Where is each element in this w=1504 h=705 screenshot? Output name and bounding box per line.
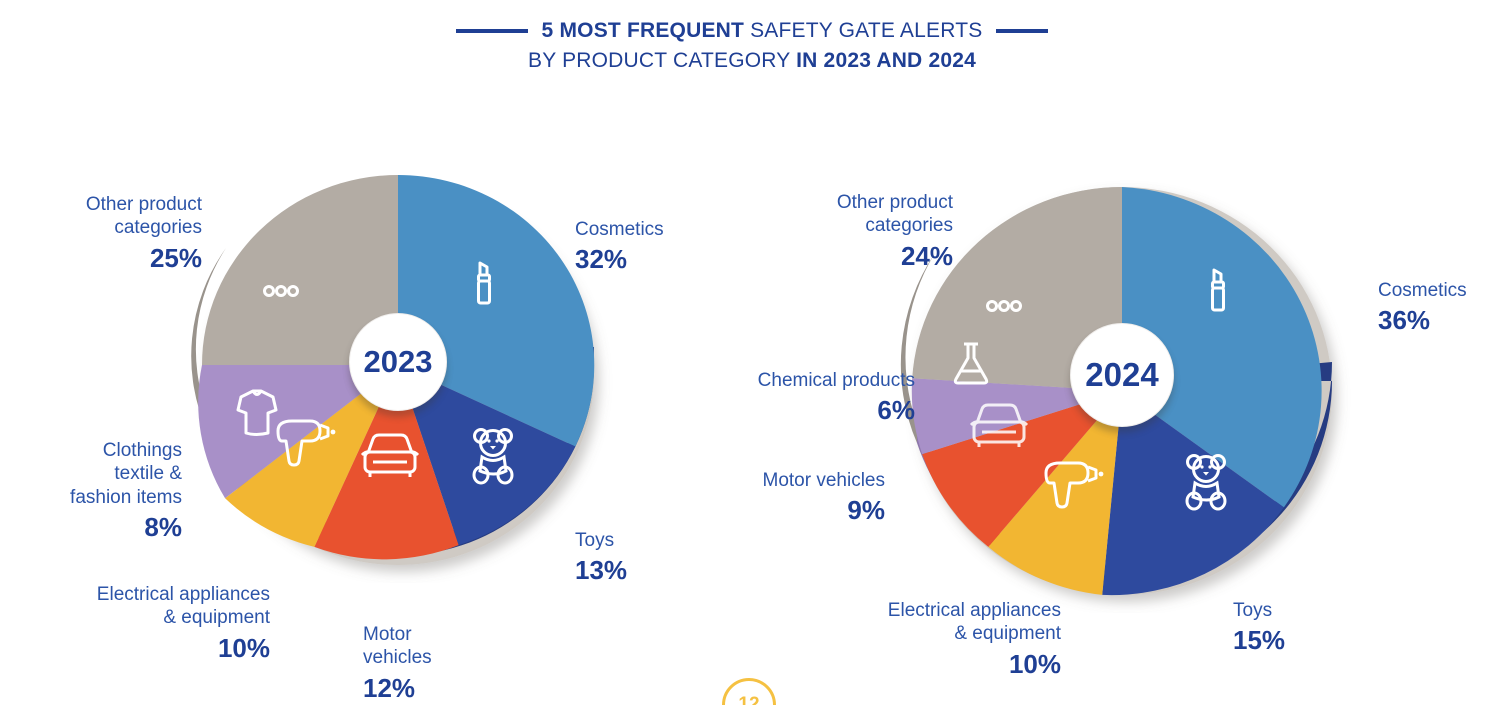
label-other-2024-pct: 24% — [715, 241, 953, 273]
label-electrical-2023: Electrical appliances & equipment 10% — [30, 560, 270, 687]
label-toys-2024: Toys 15% — [1233, 576, 1373, 680]
label-electrical-2024-text: Electrical appliances & equipment — [888, 600, 1061, 644]
label-electrical-2023-pct: 10% — [30, 633, 270, 665]
label-toys-2023-pct: 13% — [575, 555, 725, 587]
label-cosmetics-2024: Cosmetics 36% — [1378, 256, 1504, 360]
title-regular-part: SAFETY GATE ALERTS — [744, 19, 982, 42]
label-toys-2023-text: Toys — [575, 530, 614, 551]
label-motor-2023-text: Motor vehicles — [363, 624, 432, 668]
label-electrical-2024-pct: 10% — [715, 649, 1061, 681]
label-cosmetics-2024-pct: 36% — [1378, 305, 1504, 337]
label-other-2023-text: Other product categories — [86, 194, 202, 238]
pie-2024-graphic: 2024 — [887, 143, 1357, 613]
label-toys-2023: Toys 13% — [575, 506, 725, 610]
charts-container: 2023 Other product categories 25% Clothi… — [0, 128, 1504, 705]
label-electrical-2023-text: Electrical appliances & equipment — [97, 584, 270, 628]
label-motor-2024: Motor vehicles 9% — [715, 446, 885, 550]
title-rule-right — [996, 29, 1048, 33]
label-toys-2024-pct: 15% — [1233, 625, 1373, 657]
label-chemical-2024-text: Chemical products — [758, 370, 915, 391]
label-clothing-2023-text: Clothings textile & fashion items — [70, 440, 182, 507]
label-cosmetics-2023-text: Cosmetics — [575, 219, 664, 240]
label-motor-2024-pct: 9% — [715, 495, 885, 527]
label-motor-2023: Motor vehicles 12% — [363, 600, 523, 705]
label-toys-2024-text: Toys — [1233, 600, 1272, 621]
label-chemical-2024-pct: 6% — [715, 395, 915, 427]
label-other-2023: Other product categories 25% — [30, 170, 202, 297]
label-clothing-2023-pct: 8% — [30, 512, 182, 544]
label-motor-2024-text: Motor vehicles — [763, 470, 886, 491]
pie-chart-2023: 2023 Other product categories 25% Clothi… — [30, 128, 760, 705]
title-rule-left — [456, 29, 528, 33]
center-year-badge-2024: 2024 — [1070, 323, 1174, 427]
label-other-2024-text: Other product categories — [837, 192, 953, 236]
title-bold-part: 5 MOST FREQUENT — [542, 19, 745, 42]
page-title: 5 MOST FREQUENT SAFETY GATE ALERTS BY PR… — [0, 18, 1504, 75]
pie-2023-graphic: 2023 — [178, 143, 618, 583]
label-other-2024: Other product categories 24% — [715, 168, 953, 295]
label-cosmetics-2024-text: Cosmetics — [1378, 280, 1467, 301]
label-motor-2023-pct: 12% — [363, 673, 523, 705]
center-year-badge-2023: 2023 — [349, 313, 447, 411]
title-line2-regular: BY PRODUCT CATEGORY — [528, 49, 796, 72]
title-line2-bold: IN 2023 AND 2024 — [796, 49, 976, 72]
label-clothing-2023: Clothings textile & fashion items 8% — [30, 416, 182, 567]
label-other-2023-pct: 25% — [30, 243, 202, 275]
infographic-page: 5 MOST FREQUENT SAFETY GATE ALERTS BY PR… — [0, 0, 1504, 705]
pie-chart-2024: 2024 Other product categories 24% Chemic… — [715, 128, 1504, 705]
label-chemical-2024: Chemical products 6% — [715, 346, 915, 450]
